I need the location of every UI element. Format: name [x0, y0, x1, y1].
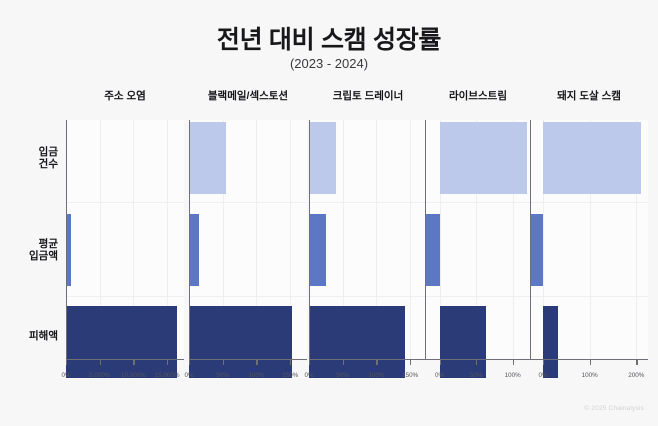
y-axis-line: [425, 120, 426, 360]
x-tick: [543, 360, 544, 365]
x-tick-label: 0%: [435, 372, 444, 379]
chart-subtitle: (2023 - 2024): [0, 56, 658, 71]
bar-1-0: [189, 122, 226, 194]
bar-4-2: [543, 306, 558, 378]
x-tick-label: 10,000%: [121, 372, 146, 379]
x-tick: [66, 360, 67, 365]
panel-title-2: 크립토 드레이너: [309, 88, 427, 103]
y-axis-line: [309, 120, 310, 360]
x-tick: [223, 360, 224, 365]
x-tick-label: 15,000%: [155, 372, 180, 379]
x-tick: [290, 360, 291, 365]
x-tick-label: 50%: [470, 372, 483, 379]
panel-2: 크립토 드레이너0%50%100%150%: [309, 88, 427, 380]
x-tick-label: 50%: [336, 372, 349, 379]
y-axis-line: [189, 120, 190, 360]
x-tick: [189, 360, 190, 365]
x-tick-label: 100%: [368, 372, 384, 379]
panel-title-4: 돼지 도살 스캠: [530, 88, 648, 103]
panel-3: 라이브스트림0%50%100%: [425, 88, 531, 380]
bar-1-2: [189, 306, 292, 378]
x-tick: [410, 360, 411, 365]
bar-3-2: [440, 306, 486, 378]
plot-area-0: 0%5,000%10,000%15,000%: [66, 120, 184, 360]
panel-1: 블랙메일/섹스토션0%50%100%150%: [189, 88, 307, 380]
bar-4-0: [543, 122, 641, 194]
x-tick-label: 100%: [582, 372, 598, 379]
bar-4-1: [530, 214, 543, 286]
x-tick-label: 100%: [248, 372, 264, 379]
panel-title-0: 주소 오염: [66, 88, 184, 103]
bar-2-2: [309, 306, 405, 378]
plot-area-4: 0%100%200%: [530, 120, 648, 360]
plot-area-1: 0%50%100%150%: [189, 120, 307, 360]
bar-3-1: [425, 214, 440, 286]
x-tick: [590, 360, 591, 365]
x-axis-line: [425, 359, 531, 360]
bar-3-0: [440, 122, 528, 194]
category-label-1: 평균입금액: [0, 238, 58, 262]
x-tick-label: 0%: [184, 372, 193, 379]
x-tick: [100, 360, 101, 365]
x-tick-label: 0%: [61, 372, 70, 379]
x-tick: [513, 360, 514, 365]
y-axis-line: [66, 120, 67, 360]
x-tick: [256, 360, 257, 365]
gridline-v: [410, 120, 411, 360]
x-tick-label: 150%: [402, 372, 418, 379]
panel-title-3: 라이브스트림: [425, 88, 531, 103]
panel-4: 돼지 도살 스캠0%100%200%: [530, 88, 648, 380]
bar-0-2: [66, 306, 177, 378]
y-axis-line: [530, 120, 531, 360]
x-tick: [343, 360, 344, 365]
plot-area-3: 0%50%100%: [425, 120, 531, 360]
category-label-0: 입금건수: [0, 146, 58, 170]
bar-1-1: [189, 214, 199, 286]
panel-0: 주소 오염0%5,000%10,000%15,000%: [66, 88, 184, 380]
x-tick-label: 0%: [538, 372, 547, 379]
chart-canvas: 전년 대비 스캠 성장률 (2023 - 2024) 입금건수평균입금액피해액 …: [0, 0, 658, 426]
panel-title-1: 블랙메일/섹스토션: [189, 88, 307, 103]
x-tick: [376, 360, 377, 365]
x-tick: [476, 360, 477, 365]
x-tick: [309, 360, 310, 365]
x-tick: [167, 360, 168, 365]
bar-2-0: [309, 122, 336, 194]
page-title: 전년 대비 스캠 성장률: [0, 20, 658, 56]
x-tick-label: 0%: [304, 372, 313, 379]
x-tick-label: 150%: [282, 372, 298, 379]
x-tick-label: 50%: [216, 372, 229, 379]
category-axis-labels: 입금건수평균입금액피해액: [0, 120, 64, 360]
bar-2-1: [309, 214, 326, 286]
plot-area-2: 0%50%100%150%: [309, 120, 427, 360]
x-tick-label: 100%: [505, 372, 521, 379]
x-tick-label: 200%: [628, 372, 644, 379]
x-tick: [133, 360, 134, 365]
x-tick: [440, 360, 441, 365]
x-tick: [636, 360, 637, 365]
category-label-2: 피해액: [0, 330, 58, 342]
gridline-h: [425, 296, 531, 297]
gridline-h: [425, 202, 531, 203]
x-tick-label: 5,000%: [89, 372, 110, 379]
watermark: © 2025 Chainalysis: [584, 405, 644, 412]
